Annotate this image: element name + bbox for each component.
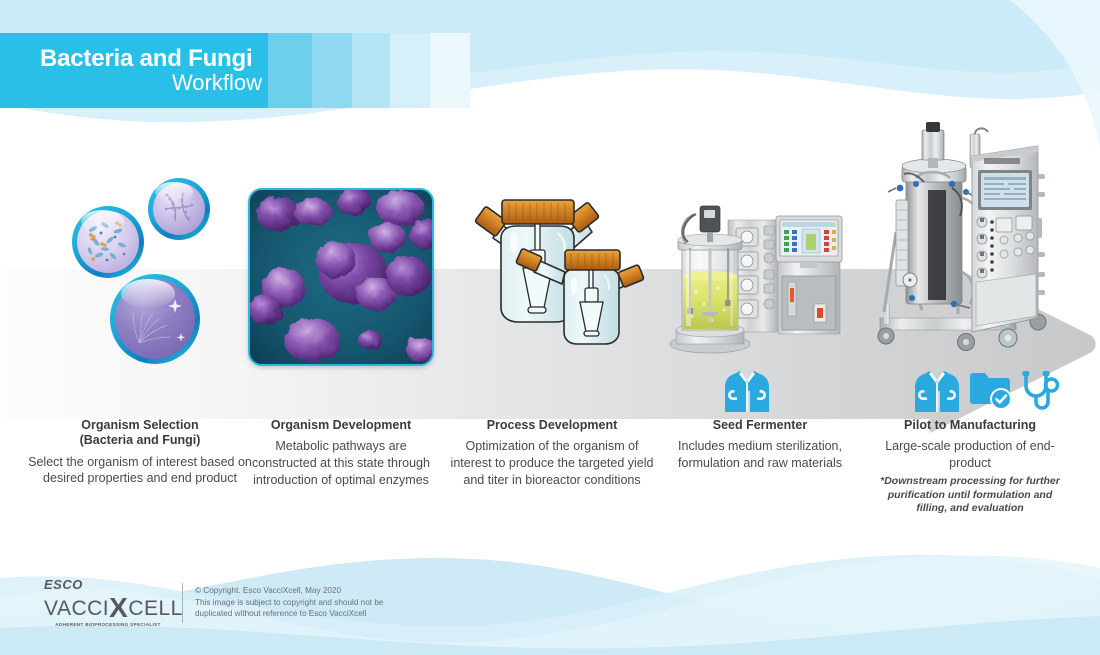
step-labels: Organism Selection (Bacteria and Fungi) … [0, 0, 1100, 655]
step-description: Optimization of the organism of interest… [446, 438, 658, 489]
step-process-development: Process Development Optimization of the … [446, 418, 658, 489]
step-organism-development: Organism Development Metabolic pathways … [248, 418, 434, 489]
step-description: Large-scale production of end-product [872, 438, 1068, 472]
copyright-line-1: © Copyright. Esco VacciXcell, May 2020 [195, 585, 383, 597]
logo-vaccixcell-text: VACCIXCELL [44, 592, 172, 620]
copyright-line-2: This image is subject to copyright and s… [195, 597, 383, 609]
step-organism-selection: Organism Selection (Bacteria and Fungi) … [20, 418, 260, 487]
step-title-line1: Organism Selection [81, 418, 198, 432]
logo-cell-part: CELL [128, 597, 183, 620]
logo-esco-text: ESCO [44, 578, 172, 591]
step-seed-fermenter: Seed Fermenter Includes medium steriliza… [662, 418, 858, 472]
step-title-line2: (Bacteria and Fungi) [80, 433, 201, 447]
step-title: Pilot to Manufacturing [872, 418, 1068, 433]
logo-x-mark: X [109, 592, 128, 623]
step-description: Select the organism of interest based on… [20, 454, 260, 488]
vaccixcell-logo: ESCO VACCIXCELL ADHERENT BIOPROCESSING S… [44, 578, 172, 627]
infographic-canvas: Bacteria and Fungi Workflow [0, 0, 1100, 655]
logo-vacci-part: VACCI [44, 597, 109, 620]
step-title: Seed Fermenter [662, 418, 858, 433]
logo-tagline: ADHERENT BIOPROCESSING SPECIALIST [44, 622, 172, 627]
copyright-line-3: duplicated without reference to Esco Vac… [195, 608, 383, 620]
step-description: Includes medium sterilization, formulati… [662, 438, 858, 472]
step-footnote: *Downstream processing for further purif… [872, 475, 1068, 516]
copyright-notice: © Copyright. Esco VacciXcell, May 2020 T… [195, 585, 383, 620]
step-title: Process Development [446, 418, 658, 433]
step-description: Metabolic pathways are constructed at th… [248, 438, 434, 489]
step-title: Organism Development [248, 418, 434, 433]
step-pilot-to-manufacturing: Pilot to Manufacturing Large-scale produ… [872, 418, 1068, 516]
footer: ESCO VACCIXCELL ADHERENT BIOPROCESSING S… [44, 578, 383, 627]
step-title: Organism Selection (Bacteria and Fungi) [20, 418, 260, 449]
